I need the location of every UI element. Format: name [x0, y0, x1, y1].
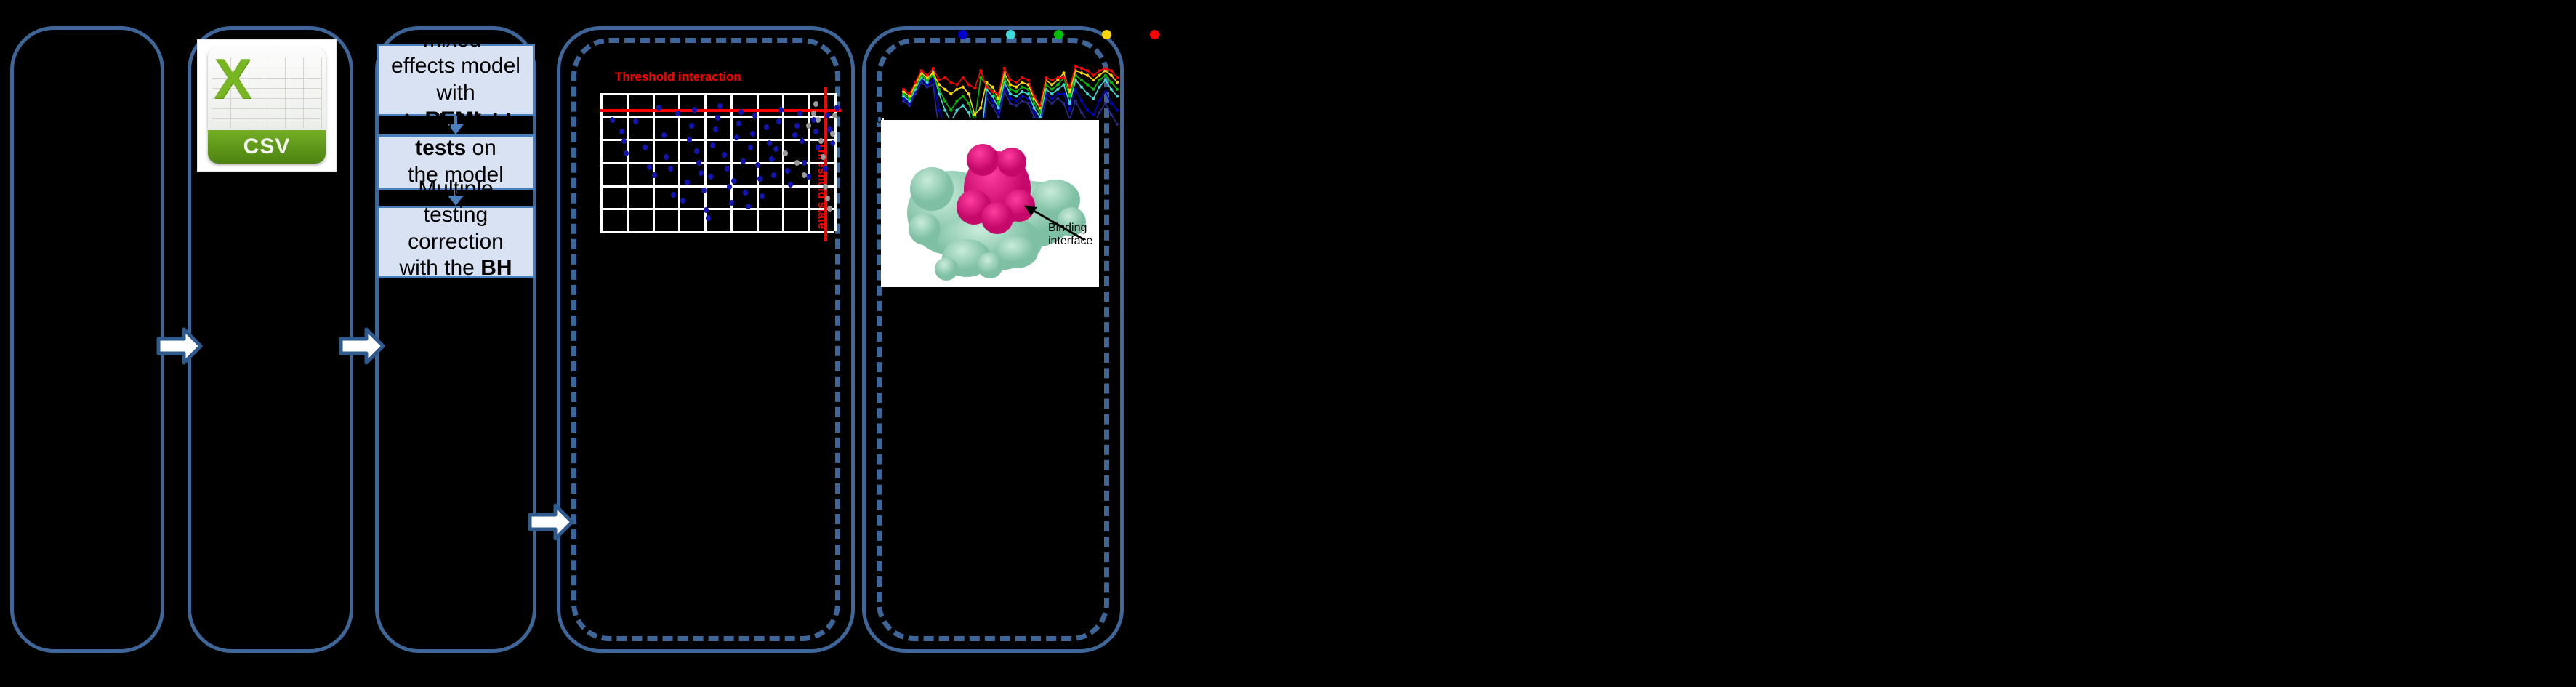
scatter-point-nonsignificant — [827, 206, 832, 212]
peptide-marker — [1110, 81, 1113, 84]
peptide-marker — [955, 88, 958, 91]
peptide-marker — [985, 86, 988, 89]
grid-line-horizontal — [600, 231, 834, 233]
peptide-marker — [1045, 76, 1047, 79]
peptide-marker — [949, 109, 952, 112]
peptide-marker — [1050, 97, 1053, 100]
scatter-point-nonsignificant — [825, 196, 830, 201]
scatter-point-nonsignificant — [783, 150, 788, 156]
scatter-point-significant — [706, 215, 711, 221]
arrow-model-to-scatter — [528, 502, 574, 542]
peptide-marker — [938, 83, 941, 86]
legend-dot-4 — [1150, 30, 1159, 39]
scatter-point-significant — [687, 137, 692, 142]
scatter-point-significant — [708, 174, 713, 180]
legend-dot-3 — [1102, 30, 1111, 39]
peptide-marker — [1009, 102, 1012, 105]
peptide-marker — [1062, 76, 1065, 79]
scatter-point-significant — [788, 182, 793, 188]
peptide-marker — [997, 92, 1000, 95]
peptide-marker — [1062, 71, 1065, 74]
peptide-marker — [1116, 76, 1119, 79]
peptide-marker — [997, 97, 1000, 100]
peptide-marker — [1056, 76, 1059, 79]
scatter-point-significant — [748, 145, 753, 150]
peptide-marker — [1015, 86, 1018, 89]
peptide-marker — [973, 113, 976, 116]
csv-file-icon: X CSV — [198, 40, 336, 171]
scatter-point-significant — [792, 132, 797, 138]
scatter-point-significant — [701, 188, 707, 193]
peptide-marker — [938, 79, 941, 81]
csv-label-band: CSV — [208, 130, 326, 164]
scatter-point-significant — [778, 107, 784, 113]
peptide-marker — [1009, 97, 1012, 100]
peptide-marker — [991, 90, 994, 93]
peptide-marker — [991, 104, 994, 107]
scatter-point-significant — [736, 121, 741, 126]
peptide-marker — [1104, 79, 1107, 81]
peptide-marker — [1098, 111, 1100, 114]
peptide-marker — [902, 88, 905, 91]
peptide-marker — [1116, 123, 1119, 126]
scatter-point-nonsignificant — [821, 154, 826, 160]
scatter-point-significant — [813, 129, 818, 134]
bh-bold: BH — [480, 256, 512, 280]
peptide-marker — [1009, 79, 1012, 81]
scatter-point-significant — [668, 166, 673, 172]
scatter-point-significant — [731, 178, 736, 184]
peptide-marker — [1050, 92, 1053, 95]
peptide-marker — [1068, 102, 1071, 105]
scatter-point-significant — [734, 134, 739, 140]
peptide-marker — [1015, 90, 1018, 93]
peptide-marker — [1033, 111, 1036, 114]
peptide-marker — [962, 76, 965, 79]
peptide-marker — [914, 81, 917, 84]
peptide-marker — [991, 86, 994, 89]
peptide-marker — [943, 76, 946, 79]
excel-x-logo-icon: X — [214, 50, 251, 107]
peptide-marker — [1104, 67, 1107, 70]
peptide-marker — [1074, 65, 1077, 68]
peptide-marker — [1056, 83, 1059, 86]
scatter-point-significant — [727, 184, 732, 190]
peptide-marker — [943, 109, 946, 112]
peptide-marker — [1098, 79, 1100, 81]
peptide-marker — [949, 81, 952, 84]
peptide-marker — [938, 92, 941, 95]
peptide-marker — [1062, 102, 1065, 105]
scatter-point-significant — [694, 148, 699, 154]
fit-model-line2: effects model with — [391, 54, 520, 105]
binding-interface-label: Binding interface — [1048, 222, 1092, 249]
bh-line3-post: procedure — [406, 283, 504, 307]
scatter-point-significant — [725, 166, 730, 172]
scatter-point-significant — [680, 198, 685, 204]
grid-line-horizontal — [600, 208, 834, 210]
peptide-marker — [1050, 83, 1053, 86]
peptide-marker — [967, 83, 970, 86]
peptide-marker — [979, 106, 982, 109]
peptide-marker — [1086, 69, 1089, 72]
peptide-marker — [955, 100, 958, 103]
peptide-marker — [1104, 102, 1107, 105]
peptide-marker — [1056, 97, 1059, 100]
fit-model-line1: Fit a linear mixed- — [405, 1, 507, 52]
scatter-point-significant — [621, 138, 627, 144]
scatter-point-significant — [750, 131, 755, 137]
peptide-marker — [997, 102, 1000, 105]
peptide-marker — [1074, 100, 1077, 103]
scatter-point-nonsignificant — [813, 101, 818, 107]
scatter-point-significant — [689, 123, 694, 129]
threshold-interaction-label: Threshold interaction — [615, 70, 741, 84]
peptide-marker — [991, 95, 994, 97]
peptide-marker — [1050, 88, 1053, 91]
scatter-point-significant — [767, 140, 772, 146]
scatter-point-significant — [816, 145, 821, 150]
peptide-marker — [1092, 88, 1095, 91]
peptide-marker — [962, 95, 965, 97]
peptide-marker — [1068, 86, 1071, 89]
peptide-marker — [1074, 88, 1077, 91]
peptide-marker — [1092, 74, 1095, 77]
peptide-marker — [1086, 109, 1089, 112]
peptide-marker — [1092, 79, 1095, 81]
peptide-marker — [1110, 74, 1113, 77]
peptide-marker — [967, 102, 970, 105]
grid-line-horizontal — [600, 185, 834, 188]
peptide-marker — [949, 92, 952, 95]
peptide-marker — [1021, 100, 1023, 103]
peptide-marker — [943, 100, 946, 103]
csv-band-label: CSV — [243, 134, 291, 159]
peptide-marker — [1110, 88, 1113, 91]
peptide-marker — [938, 88, 941, 91]
peptide-marker — [1110, 69, 1113, 72]
peptide-marker — [1009, 92, 1012, 95]
peptide-marker — [1098, 100, 1100, 103]
peptide-marker — [1009, 83, 1012, 86]
scatter-point-significant — [746, 204, 751, 209]
peptide-marker — [967, 111, 970, 114]
peptide-marker — [1098, 74, 1100, 77]
wald-line1-post: on — [466, 136, 496, 160]
scatter-point-significant — [696, 160, 701, 166]
peptide-marker — [1015, 95, 1018, 97]
binding-interface-line1: Binding — [1048, 222, 1092, 235]
peptide-marker — [1110, 113, 1113, 116]
scatter-point-significant — [738, 109, 744, 115]
peptide-marker — [1026, 79, 1029, 81]
peptide-marker — [1116, 109, 1119, 112]
csv-icon-body: X CSV — [208, 47, 326, 164]
peptide-marker — [1050, 79, 1053, 81]
peptide-marker — [1086, 83, 1089, 86]
scatter-point-significant — [764, 124, 769, 130]
scatter-point-significant — [800, 138, 805, 144]
peptide-marker — [1110, 102, 1113, 105]
scatter-point-significant — [704, 207, 709, 213]
peptide-marker — [1080, 79, 1083, 81]
scatter-point-significant — [647, 164, 652, 170]
peptide-marker — [1098, 86, 1100, 89]
peptide-marker — [1039, 104, 1042, 107]
peptide-marker — [1021, 90, 1023, 93]
scatter-point-significant — [760, 193, 765, 199]
peptide-marker — [1009, 88, 1012, 91]
scatter-point-nonsignificant — [794, 160, 800, 166]
peptide-marker — [1062, 83, 1065, 86]
scatter-point-significant — [722, 152, 727, 158]
scatter-point-significant — [661, 132, 667, 138]
peptide-marker — [1015, 81, 1018, 84]
scatter-point-nonsignificant — [806, 123, 811, 129]
scatter-point-significant — [757, 176, 762, 182]
peptide-marker — [1104, 74, 1107, 77]
peptide-marker — [997, 106, 1000, 109]
peptide-marker — [1021, 76, 1023, 79]
peptide-marker — [1092, 97, 1095, 100]
peptide-marker — [1080, 86, 1083, 89]
peptide-marker — [1050, 102, 1053, 105]
peptide-marker — [932, 71, 935, 74]
scatter-point-significant — [741, 158, 746, 164]
scatter-point-significant — [715, 115, 720, 121]
peptide-marker — [991, 100, 994, 103]
scatter-point-significant — [619, 129, 624, 134]
scatter-point-significant — [802, 160, 807, 166]
peptide-marker — [955, 109, 958, 112]
scatter-point-significant — [664, 154, 669, 160]
scatter-point-significant — [717, 103, 723, 109]
scatter-point-nonsignificant — [830, 131, 835, 137]
scatter-point-nonsignificant — [823, 184, 828, 190]
scatter-point-nonsignificant — [816, 117, 821, 123]
binding-interface-line2: interface — [1048, 235, 1092, 248]
scatter-point-significant — [794, 123, 800, 129]
scatter-point-significant — [643, 145, 648, 150]
scatter-point-significant — [699, 170, 704, 176]
peptide-marker — [1015, 100, 1018, 103]
peptide-marker — [1039, 111, 1042, 114]
peptide-marker — [1021, 81, 1023, 84]
arrow-into-csv — [156, 326, 203, 366]
peptide-marker — [1021, 95, 1023, 97]
threshold-interaction-line — [600, 109, 842, 112]
diagram-canvas: X CSV Fit a linear mixed- effects model … — [0, 0, 2576, 687]
peptide-marker — [1033, 102, 1036, 105]
peptide-marker — [1003, 67, 1006, 70]
bh-line2: correction — [408, 230, 504, 254]
scatter-point-nonsignificant — [832, 113, 837, 118]
scatter-point-significant — [769, 156, 774, 162]
bh-line1: Multiple testing — [418, 177, 493, 228]
peptide-marker — [1056, 92, 1059, 95]
peptide-marker — [1098, 69, 1100, 72]
peptide-marker — [1116, 88, 1119, 91]
peptide-marker — [1086, 92, 1089, 95]
peptide-marker — [1062, 92, 1065, 95]
scatter-point-significant — [652, 172, 657, 178]
peptide-marker — [1086, 74, 1089, 77]
peptide-marker — [1080, 100, 1083, 103]
legend-dot-0 — [958, 30, 967, 39]
peptide-marker — [967, 92, 970, 95]
scatter-point-significant — [633, 118, 638, 124]
scatter-point-significant — [610, 117, 615, 123]
peptide-marker — [955, 83, 958, 86]
peptide-marker — [1080, 67, 1083, 70]
scatter-point-nonsignificant — [818, 138, 824, 144]
peptide-marker — [962, 86, 965, 89]
threshold-state-line — [824, 87, 827, 241]
protein-surface-svg — [881, 120, 1099, 287]
bh-line3-pre: with the — [399, 256, 480, 280]
scatter-point-significant — [713, 126, 718, 132]
empty-panel — [10, 26, 164, 653]
scatter-point-significant — [671, 192, 676, 198]
scatter-point-significant — [755, 162, 760, 168]
wald-line1-pre: Apply — [400, 110, 460, 134]
scatter-point-significant — [692, 107, 697, 113]
peptide-marker — [1068, 109, 1071, 112]
peptide-marker — [979, 69, 982, 72]
peptide-marker — [932, 67, 935, 70]
csv-spreadsheet-area: X — [208, 47, 326, 130]
scatter-point-significant — [797, 111, 802, 116]
protein-binding-interface-region — [957, 144, 1035, 234]
arrow-csv-to-model — [339, 326, 385, 366]
peptide-marker — [1080, 71, 1083, 74]
peptide-marker — [1116, 95, 1119, 97]
scatter-point-significant — [743, 190, 748, 196]
peptide-marker — [979, 76, 982, 79]
scatter-point-significant — [776, 118, 781, 124]
scatter-point-significant — [830, 140, 835, 146]
scatter-point-significant — [624, 150, 629, 156]
peptide-marker — [919, 69, 922, 72]
threshold-scatter-plot — [600, 93, 834, 231]
peptide-marker — [1104, 90, 1107, 93]
scatter-point-significant — [785, 168, 790, 174]
peptide-marker — [962, 104, 965, 107]
peptide-marker — [973, 87, 976, 89]
peptide-marker — [1080, 111, 1083, 114]
process-box-fit-model[interactable]: Fit a linear mixed- effects model with R… — [377, 44, 535, 116]
peptide-marker — [938, 109, 941, 112]
process-box-bh-correction[interactable]: Multiple testing correction with the BH … — [377, 206, 535, 278]
scatter-point-significant — [773, 146, 778, 152]
scatter-point-significant — [710, 142, 715, 148]
scatter-point-significant — [729, 200, 734, 206]
scatter-point-nonsignificant — [802, 172, 807, 178]
legend-dot-1 — [1006, 30, 1015, 39]
grid-line-horizontal — [600, 93, 834, 95]
peptide-marker — [1092, 113, 1095, 116]
peptide-marker — [1021, 86, 1023, 89]
peptide-marker — [1015, 104, 1018, 107]
peptide-marker — [1056, 88, 1059, 91]
peptide-marker — [908, 92, 911, 95]
peptide-marker — [1068, 90, 1071, 93]
peptide-marker — [926, 74, 929, 77]
scatter-point-significant — [806, 174, 811, 180]
peptide-marker — [997, 111, 1000, 114]
scatter-point-significant — [771, 172, 776, 178]
peptide-marker — [1068, 95, 1071, 97]
peptide-marker — [943, 88, 946, 91]
legend-dot-2 — [1054, 30, 1063, 39]
peptide-marker — [1033, 95, 1036, 97]
peptide-marker — [1116, 81, 1119, 84]
peptide-marker — [1033, 106, 1036, 109]
protein-surface-render: Binding interface — [881, 120, 1099, 287]
